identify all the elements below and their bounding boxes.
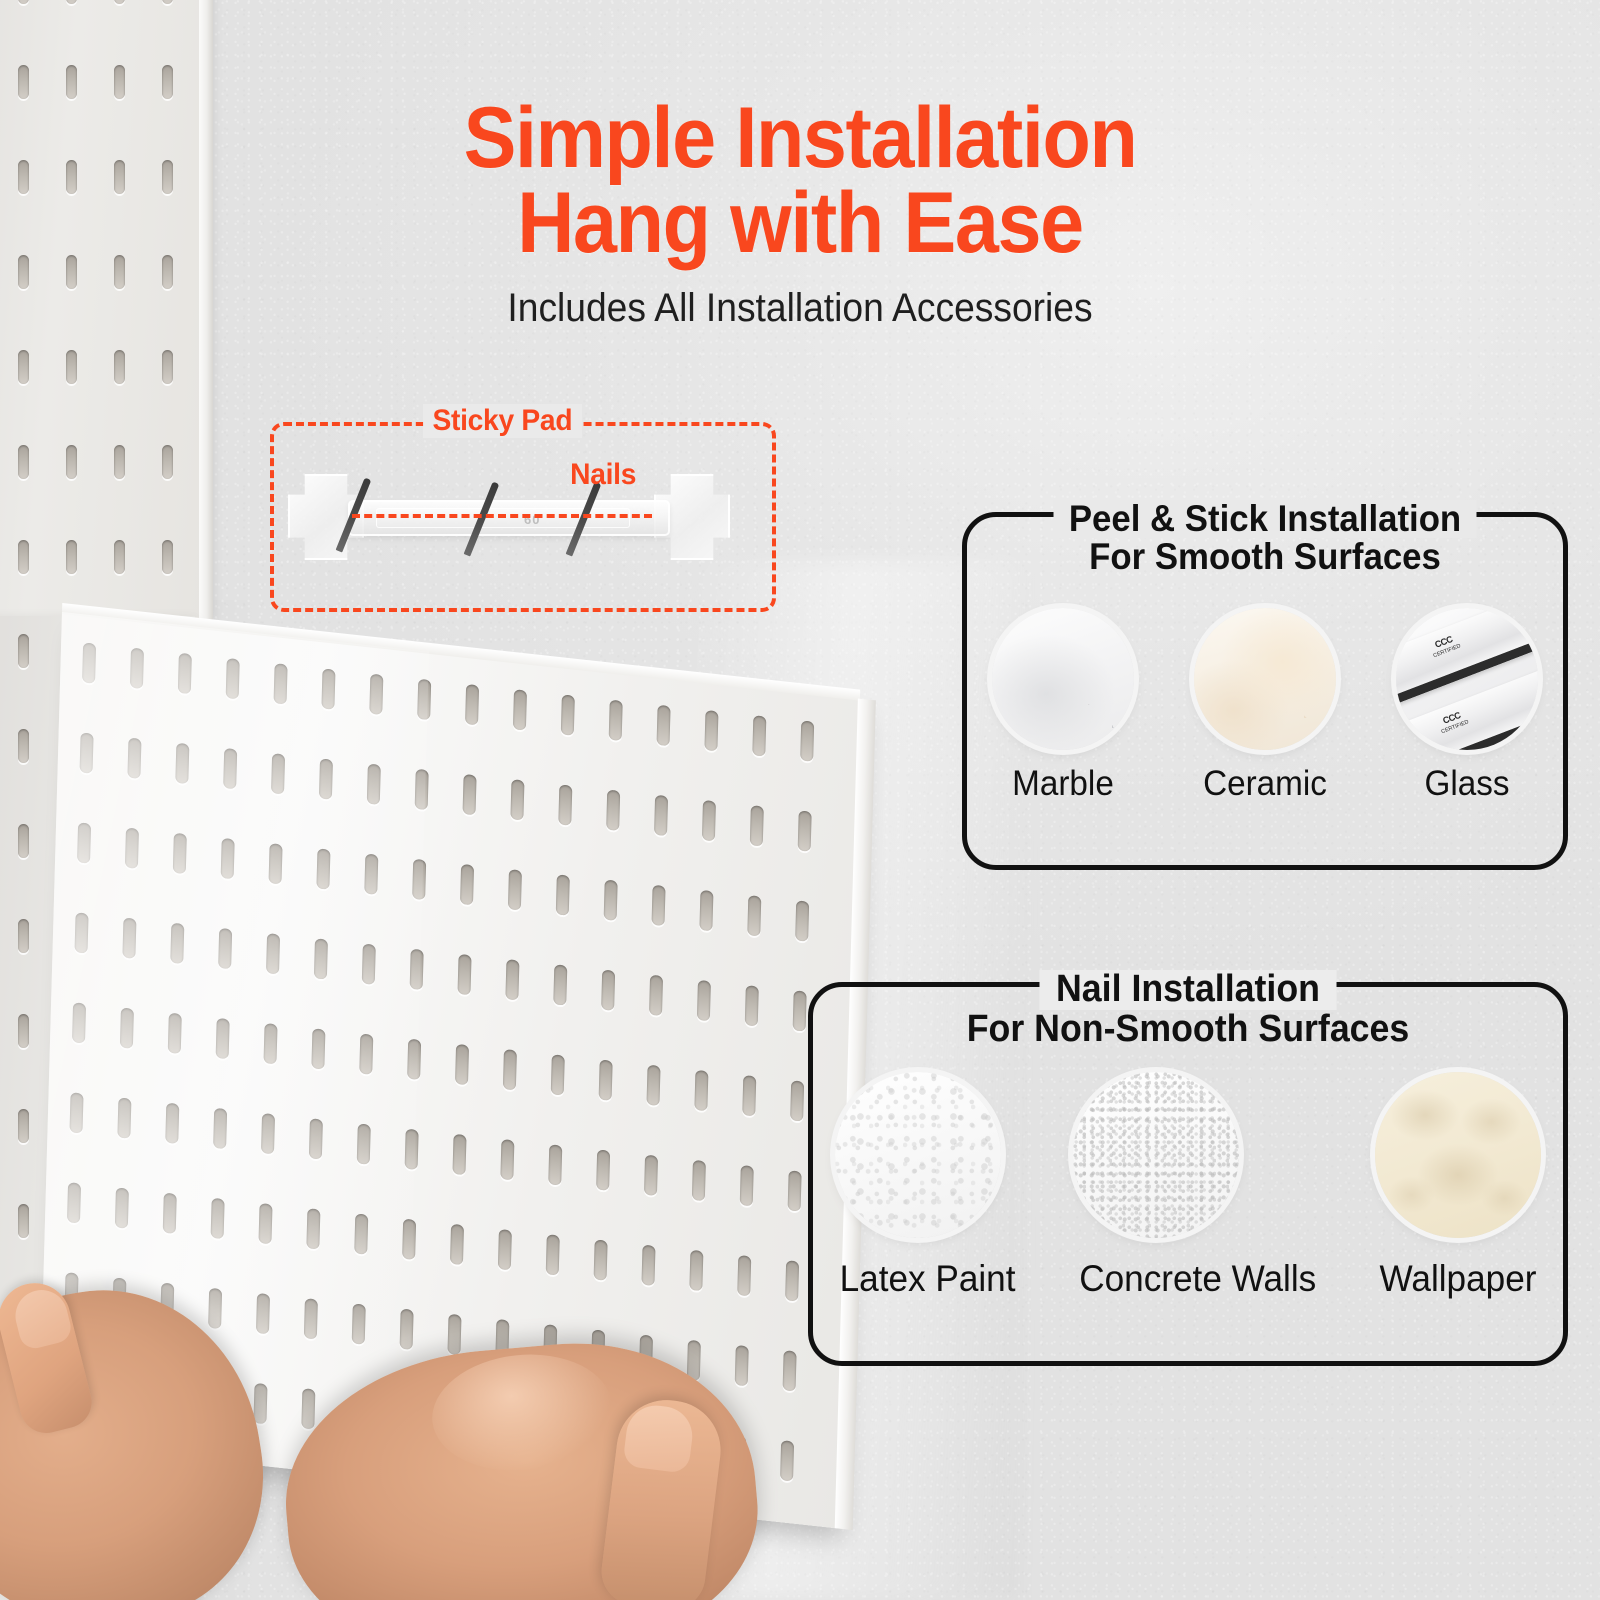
pegboard-slot [609, 700, 623, 741]
pegboard-slot [795, 900, 809, 941]
swatch-wallpaper-image [1375, 1072, 1541, 1238]
pegboard-slot [498, 1229, 512, 1270]
pegboard-slot [651, 885, 665, 926]
pegboard-slot [18, 1109, 29, 1143]
pegboard-slot [369, 674, 383, 715]
pegboard-slot [130, 648, 144, 689]
pegboard-slot [364, 854, 378, 895]
pegboard-slot [82, 642, 96, 683]
pegboard-slot [699, 890, 713, 931]
pegboard-slot [66, 0, 77, 4]
pegboard-slot [127, 738, 141, 779]
pegboard-slot [80, 732, 94, 773]
pegboard-slot [644, 1155, 658, 1196]
pegboard-slot [120, 1007, 134, 1048]
pegboard-slot [798, 810, 812, 851]
pegboard-slot [702, 800, 716, 841]
pegboard-slot [18, 1014, 29, 1048]
swatch-latex-paint-label: Latex Paint [839, 1258, 1015, 1300]
pegboard-slot [269, 843, 283, 884]
panel-nail-installation-title-line-2: For Non-Smooth Surfaces [831, 1010, 1545, 1050]
pegboard-slot [601, 969, 615, 1010]
pegboard-slot [737, 1255, 751, 1296]
page-title: Simple Installation Hang with Ease [340, 96, 1260, 266]
swatch-concrete-walls-image [1073, 1072, 1239, 1238]
pegboard-slot [223, 748, 237, 789]
swatch-latex-paint-image [835, 1072, 1001, 1238]
pegboard-panel-top-left-edge [199, 0, 213, 626]
pegboard-slot [785, 1260, 799, 1301]
pegboard-slot [114, 350, 125, 384]
pegboard-slot [314, 938, 328, 979]
page-title-line-1: Simple Installation [464, 90, 1137, 186]
pegboard-slot [556, 874, 570, 915]
pegboard-slot [513, 689, 527, 730]
panel-nail-installation-swatches: Latex Paint Concrete Walls Wallpaper [808, 1072, 1568, 1300]
pegboard-slot [18, 1204, 29, 1238]
pegboard-slot [309, 1118, 323, 1159]
pegboard-slot [747, 895, 761, 936]
swatch-glass-image: CCC CERTIFIED CCC CERTIFIED [1396, 608, 1538, 750]
pegboard-slot [18, 350, 29, 384]
pegboard-slot [402, 1219, 416, 1260]
pegboard-slot [800, 720, 814, 761]
pegboard-slot [226, 658, 240, 699]
pegboard-slot [457, 954, 471, 995]
panel-peel-stick-title-line-2: For Smooth Surfaces [980, 538, 1550, 576]
pegboard-slot [415, 769, 429, 810]
pegboard-slot [18, 255, 29, 289]
pegboard-slot [561, 694, 575, 735]
pegboard-slot [253, 1383, 267, 1424]
page-title-line-2: Hang with Ease [340, 181, 1260, 266]
pegboard-slot [208, 1288, 222, 1329]
pegboard-slot [654, 795, 668, 836]
pegboard-slot [400, 1309, 414, 1350]
pegboard-slot [18, 540, 29, 574]
pegboard-slot [367, 764, 381, 805]
pegboard-slot [465, 684, 479, 725]
swatch-concrete-walls[interactable]: Concrete Walls [1073, 1072, 1322, 1300]
pegboard-slot [649, 975, 663, 1016]
pegboard-slot [407, 1039, 421, 1080]
pegboard-slot [405, 1129, 419, 1170]
pegboard-slot [510, 779, 524, 820]
pegboard-slot [508, 869, 522, 910]
pegboard-slot [18, 160, 29, 194]
swatch-glass-label: Glass [1400, 764, 1535, 804]
ccc-certification-icon: CCC CERTIFIED [1421, 629, 1470, 665]
pegboard-slot [115, 1187, 129, 1228]
pegboard-slot [304, 1298, 318, 1339]
pegboard-slot [175, 743, 189, 784]
panel-peel-stick-title: Peel & Stick Installation For Smooth Sur… [980, 500, 1550, 577]
pegboard-slot [256, 1293, 270, 1334]
pegboard-slot [450, 1224, 464, 1265]
panel-peel-stick-title-line-1: Peel & Stick Installation [1054, 500, 1476, 538]
pegboard-slot [745, 985, 759, 1026]
pegboard-slot [178, 653, 192, 694]
swatch-glass[interactable]: CCC CERTIFIED CCC CERTIFIED Glass [1396, 608, 1538, 804]
pegboard-slot [261, 1113, 275, 1154]
swatch-concrete-walls-label: Concrete Walls [1079, 1258, 1316, 1300]
pegboard-slot [18, 0, 29, 4]
pegboard-slot [752, 715, 766, 756]
swatch-marble-image [992, 608, 1134, 750]
pegboard-slot [790, 1080, 804, 1121]
pegboard-slot [553, 964, 567, 1005]
pegboard-slot [359, 1033, 373, 1074]
pegboard-slot [114, 65, 125, 99]
pegboard-slot [735, 1345, 749, 1386]
pegboard-slot [641, 1245, 655, 1286]
pegboard-slot [114, 445, 125, 479]
pegboard-slot [750, 805, 764, 846]
pegboard-slot [646, 1065, 660, 1106]
panel-nail-installation-title: Nail Installation For Non-Smooth Surface… [831, 970, 1545, 1049]
pegboard-slot [742, 1075, 756, 1116]
panel-peel-stick-swatches: Marble Ceramic CCC CERTIFIED CCC CERTIFI… [962, 608, 1568, 804]
pegboard-slot [271, 753, 285, 794]
pegboard-slot [162, 540, 173, 574]
pegboard-slot [66, 65, 77, 99]
swatch-ceramic[interactable]: Ceramic [1194, 608, 1336, 804]
pegboard-slot [311, 1028, 325, 1069]
pegboard-slot [165, 1103, 179, 1144]
pegboard-slot [162, 350, 173, 384]
pegboard-slot [18, 65, 29, 99]
pegboard-slot [319, 758, 333, 799]
swatch-marble-label: Marble [996, 764, 1131, 804]
pegboard-slot [551, 1054, 565, 1095]
pegboard-slot [266, 933, 280, 974]
pegboard-slot [122, 917, 136, 958]
pegboard-slot [546, 1234, 560, 1275]
pegboard-slot [793, 990, 807, 1031]
pegboard-slot [316, 848, 330, 889]
pegboard-slot [221, 838, 235, 879]
sticky-pad-label: Sticky Pad [423, 404, 582, 438]
pegboard-slot [306, 1208, 320, 1249]
pegboard-slot [18, 445, 29, 479]
pegboard-slot [163, 1193, 177, 1234]
pegboard-slot [788, 1170, 802, 1211]
pegboard-slot [689, 1250, 703, 1291]
pegboard-slot [505, 959, 519, 1000]
pegboard-slot [604, 880, 618, 921]
pegboard-slot [740, 1165, 754, 1206]
pegboard-slot [72, 1002, 86, 1043]
pegboard-slot [455, 1044, 469, 1085]
pegboard-slot [66, 255, 77, 289]
pegboard-slot [218, 928, 232, 969]
page-subtitle: Includes All Installation Accessories [335, 286, 1265, 331]
pegboard-slot [274, 663, 288, 704]
pegboard-slot [362, 943, 376, 984]
pegboard-slot [704, 710, 718, 751]
pegboard-slot [503, 1049, 517, 1090]
pegboard-slot [258, 1203, 272, 1244]
pegboard-slot [452, 1134, 466, 1175]
pegboard-slot [162, 0, 173, 4]
pegboard-slot [321, 668, 335, 709]
swatch-wallpaper-label: Wallpaper [1380, 1258, 1538, 1300]
pegboard-slot [213, 1108, 227, 1149]
pegboard-slot [66, 540, 77, 574]
pegboard-slot [162, 255, 173, 289]
pegboard-slot [69, 1092, 83, 1133]
pegboard-slot [173, 833, 187, 874]
pegboard-slot [599, 1059, 613, 1100]
pegboard-slot [75, 912, 89, 953]
pegboard-slot [447, 1314, 461, 1355]
pegboard-slot [162, 65, 173, 99]
pegboard-slot [125, 828, 139, 869]
pegboard-slot [162, 160, 173, 194]
pegboard-slot [170, 923, 184, 964]
pegboard-slot [216, 1018, 230, 1059]
pegboard-slot [357, 1123, 371, 1164]
pegboard-slot [694, 1070, 708, 1111]
pegboard-slot [657, 705, 671, 746]
swatch-latex-paint[interactable]: Latex Paint [835, 1072, 1020, 1300]
pegboard-slot [548, 1144, 562, 1185]
pegboard-slot [697, 980, 711, 1021]
pegboard-slot [66, 445, 77, 479]
pegboard-slot [352, 1303, 366, 1344]
pegboard-slot [67, 1182, 81, 1223]
pegboard-slot [18, 919, 29, 953]
pegboard-slot [354, 1213, 368, 1254]
pegboard-slot [114, 255, 125, 289]
pegboard-slot [692, 1160, 706, 1201]
pegboard-slot [117, 1097, 131, 1138]
pegboard-slot [162, 445, 173, 479]
pegboard-slot [558, 784, 572, 825]
panel-nail-installation-title-line-1: Nail Installation [1039, 970, 1337, 1010]
nails-label: Nails [570, 458, 636, 492]
pegboard-slot [412, 859, 426, 900]
pegboard-slot [211, 1198, 225, 1239]
pegboard-slot [18, 824, 29, 858]
ccc-certification-icon-2: CCC CERTIFIED [1429, 705, 1478, 741]
pegboard-slot [463, 774, 477, 815]
pegboard-slot [606, 790, 620, 831]
pegboard-slot [594, 1239, 608, 1280]
sticky-pad-dashed-midline [352, 514, 652, 518]
pegboard-slot [417, 679, 431, 720]
bracket-crossbar-inner [376, 508, 630, 528]
pegboard-slot [780, 1440, 794, 1481]
pegboard-slot [77, 822, 91, 863]
pegboard-slot [410, 949, 424, 990]
pegboard-slot [18, 729, 29, 763]
swatch-wallpaper[interactable]: Wallpaper [1375, 1072, 1541, 1300]
swatch-ceramic-label: Ceramic [1198, 764, 1333, 804]
pegboard-slot [168, 1013, 182, 1054]
swatch-ceramic-image [1194, 608, 1336, 750]
pegboard-slot [301, 1388, 315, 1429]
pegboard-slot [783, 1350, 797, 1391]
pegboard-slot [66, 350, 77, 384]
pegboard-slot [500, 1139, 514, 1180]
pegboard-slot [114, 0, 125, 4]
pegboard-slot [18, 634, 29, 668]
pegboard-slot [596, 1149, 610, 1190]
pegboard-slot [114, 540, 125, 574]
pegboard-panel-top-left [0, 0, 210, 626]
pegboard-slot [114, 160, 125, 194]
pegboard-slot [460, 864, 474, 905]
swatch-marble[interactable]: Marble [992, 608, 1134, 804]
pegboard-slot [66, 160, 77, 194]
pegboard-slot [263, 1023, 277, 1064]
